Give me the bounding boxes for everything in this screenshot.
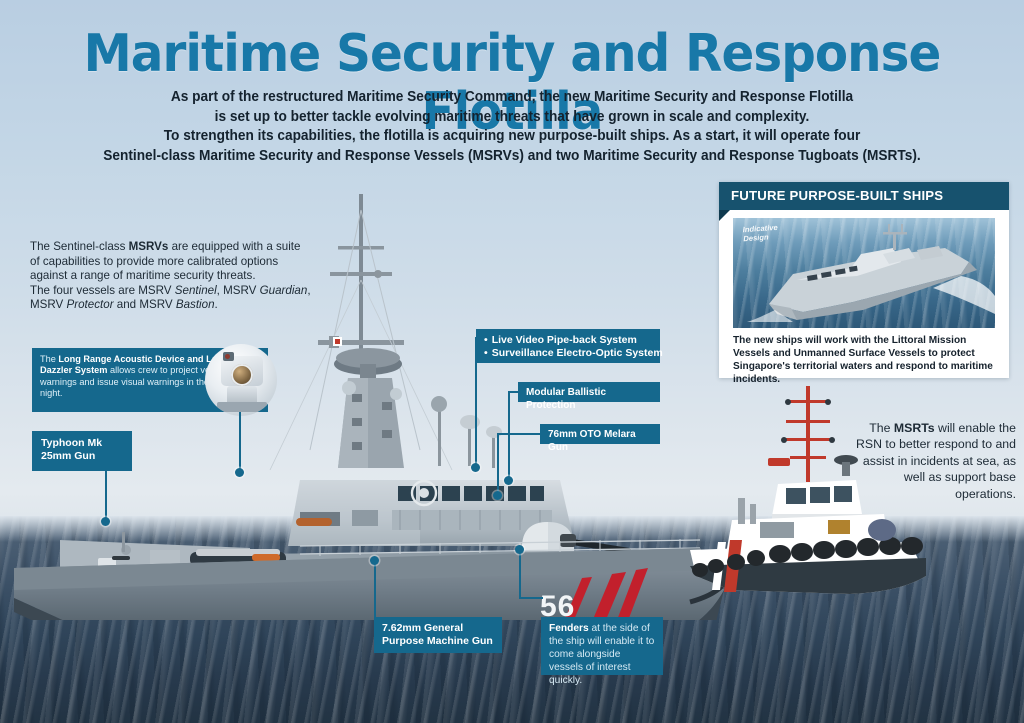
msrv-line5-a: MSRV [30, 298, 67, 311]
typhoon-line-2: 25mm Gun [41, 450, 95, 462]
leader-dot-ballistic [504, 476, 513, 485]
leader-line-fenders-v [519, 550, 521, 599]
vessel-name-protector: Protector [67, 298, 114, 311]
leader-line-fenders-h [519, 597, 543, 599]
leader-dot-mg [370, 556, 379, 565]
msrv-term: MSRVs [129, 240, 169, 253]
leader-dot-fenders [515, 545, 524, 554]
infographic-canvas: 56 [0, 0, 1024, 723]
msrv-description: The Sentinel-class MSRVs are equipped wi… [30, 240, 340, 313]
mg-line-1: 7.62mm General [382, 622, 463, 634]
msrv-line5-e: . [215, 298, 218, 311]
vessel-name-guardian: Guardian [260, 284, 308, 297]
msrv-line3: against a range of maritime security thr… [30, 269, 256, 282]
panel-corner-notch [719, 210, 730, 221]
future-ship-image: Indicative Design [733, 218, 995, 328]
lrad-camera-shape [223, 352, 234, 361]
lrad-lead: The [40, 354, 58, 364]
leader-dot-video [471, 463, 480, 472]
leader-line-lrad-v [239, 412, 241, 472]
svg-text:56: 56 [540, 590, 575, 620]
watermark-line-2: Design [743, 232, 769, 243]
lrad-lens-shape [231, 364, 253, 386]
msrv-line4-e: , [307, 284, 310, 297]
leader-line-oto-h [497, 433, 542, 435]
fenders-term: Fenders [549, 623, 589, 634]
subtitle-line-2: is set up to better tackle evolving mari… [26, 108, 999, 128]
mg-line-2: Purpose Machine Gun [382, 635, 493, 647]
callout-machine-gun: 7.62mm General Purpose Machine Gun [374, 617, 502, 653]
leader-dot-lrad [235, 468, 244, 477]
msrt-term: MSRTs [894, 421, 935, 435]
msrv-line2: of capabilities to provide more calibrat… [30, 255, 278, 268]
vessel-name-sentinel: Sentinel [175, 284, 217, 297]
leader-line-typhoon-v [105, 471, 107, 521]
typhoon-line-1: Typhoon Mk [41, 437, 102, 449]
future-ships-caption: The new ships will work with the Littora… [733, 334, 999, 386]
leader-dot-typhoon [101, 517, 110, 526]
page-subtitle: As part of the restructured Maritime Sec… [26, 88, 999, 166]
callout-typhoon-gun: Typhoon Mk 25mm Gun [32, 431, 132, 471]
msrv-line4-a: The four vessels are MSRV [30, 284, 175, 297]
leader-line-ballistic-v [508, 391, 510, 480]
leader-line-mg-v [374, 562, 376, 619]
msrt-lead: The [869, 421, 894, 435]
leader-line-video-v [475, 337, 477, 467]
lrad-turret-photo [205, 344, 277, 416]
leader-line-oto-v [497, 433, 499, 495]
leader-dot-oto [493, 491, 502, 500]
indicative-design-watermark: Indicative Design [742, 223, 778, 243]
vessel-name-bastion: Bastion [176, 298, 215, 311]
lrad-foot-shape [217, 402, 267, 412]
subtitle-line-1: As part of the restructured Maritime Sec… [26, 88, 999, 108]
callout-ballistic-protection: Modular Ballistic Protection [518, 382, 660, 402]
future-ships-panel-header: FUTURE PURPOSE-BUILT SHIPS [719, 182, 1009, 210]
callout-oto-melara-gun: 76mm OTO Melara Gun [540, 424, 660, 444]
video-item-1: Live Video Pipe-back System [484, 334, 652, 347]
msrv-line1-a: The Sentinel-class [30, 240, 129, 253]
msrv-line5-c: and MSRV [114, 298, 176, 311]
msrt-description: The MSRTs will enable the RSN to better … [856, 420, 1016, 502]
msrv-line4-c: , MSRV [217, 284, 260, 297]
callout-video-systems: Live Video Pipe-back System Surveillance… [476, 329, 660, 363]
subtitle-line-4: Sentinel-class Maritime Security and Res… [26, 147, 999, 167]
video-item-2: Surveillance Electro-Optic System [484, 347, 652, 360]
callout-fenders: Fenders at the side of the ship will ena… [541, 617, 663, 675]
subtitle-line-3: To strengthen its capabilities, the flot… [26, 127, 999, 147]
msrv-line1-c: are equipped with a suite [168, 240, 300, 253]
